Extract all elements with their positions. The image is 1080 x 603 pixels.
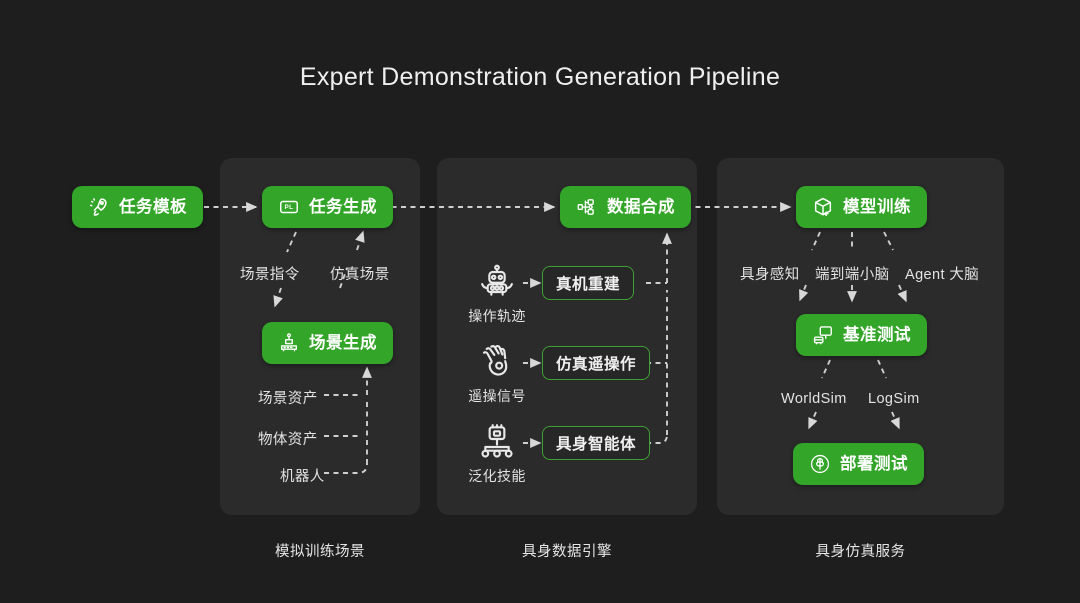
- pl-badge-icon: PL: [278, 196, 300, 218]
- node-label: 数据合成: [607, 199, 675, 216]
- label-teleop-signal: 遥操信号: [457, 386, 537, 406]
- label-scene-instruction: 场景指令: [240, 263, 300, 284]
- caption-embodied-data-engine: 具身数据引擎: [437, 540, 697, 561]
- node-scene-generation[interactable]: 场景生成: [262, 322, 393, 364]
- node-label: 模型训练: [843, 199, 911, 216]
- monitor-icon: [812, 324, 834, 346]
- caption-simulation-training-scene: 模拟训练场景: [220, 540, 420, 561]
- node-deployment-test[interactable]: 部署测试: [793, 443, 924, 485]
- label-scene-asset: 场景资产: [258, 387, 318, 408]
- box-simulated-teleoperation[interactable]: 仿真遥操作: [542, 346, 650, 380]
- label-generalization-skill: 泛化技能: [457, 466, 537, 486]
- caption-embodied-simulation-service: 具身仿真服务: [717, 540, 1004, 561]
- svg-text:PL: PL: [284, 204, 293, 211]
- chip-network-icon: [477, 422, 517, 462]
- page-title: Expert Demonstration Generation Pipeline: [0, 63, 1080, 92]
- label-end-to-end-cerebellum: 端到端小脑: [815, 263, 890, 284]
- brain-icon: [809, 453, 831, 475]
- label-object-asset: 物体资产: [258, 428, 318, 449]
- node-label: 场景生成: [309, 335, 377, 352]
- label-embodied-perception: 具身感知: [740, 263, 800, 284]
- robot-icon: [477, 262, 517, 302]
- box-embodied-agent[interactable]: 具身智能体: [542, 426, 650, 460]
- scene-robot-icon: [278, 332, 300, 354]
- node-benchmark-test[interactable]: 基准测试: [796, 314, 927, 356]
- data-synth-icon: [576, 196, 598, 218]
- label-robot: 机器人: [280, 465, 325, 486]
- label-operation-trajectory: 操作轨迹: [457, 306, 537, 326]
- node-label: 部署测试: [840, 456, 908, 473]
- label-logsim: LogSim: [868, 391, 920, 407]
- glove-icon: [477, 342, 517, 382]
- cube-icon: [812, 196, 834, 218]
- node-label: 任务模板: [119, 199, 187, 216]
- label-worldsim: WorldSim: [781, 391, 847, 407]
- label-agent-brain: Agent 大脑: [905, 263, 979, 284]
- label-simulation-scene: 仿真场景: [330, 263, 390, 284]
- node-model-training[interactable]: 模型训练: [796, 186, 927, 228]
- node-label: 任务生成: [309, 199, 377, 216]
- node-task-template[interactable]: 任务模板: [72, 186, 203, 228]
- rocket-icon: [88, 196, 110, 218]
- node-data-synthesis[interactable]: 数据合成: [560, 186, 691, 228]
- box-real-machine-reconstruction[interactable]: 真机重建: [542, 266, 634, 300]
- node-label: 基准测试: [843, 327, 911, 344]
- diagram-canvas: Expert Demonstration Generation Pipeline: [0, 0, 1080, 603]
- node-task-generation[interactable]: PL 任务生成: [262, 186, 393, 228]
